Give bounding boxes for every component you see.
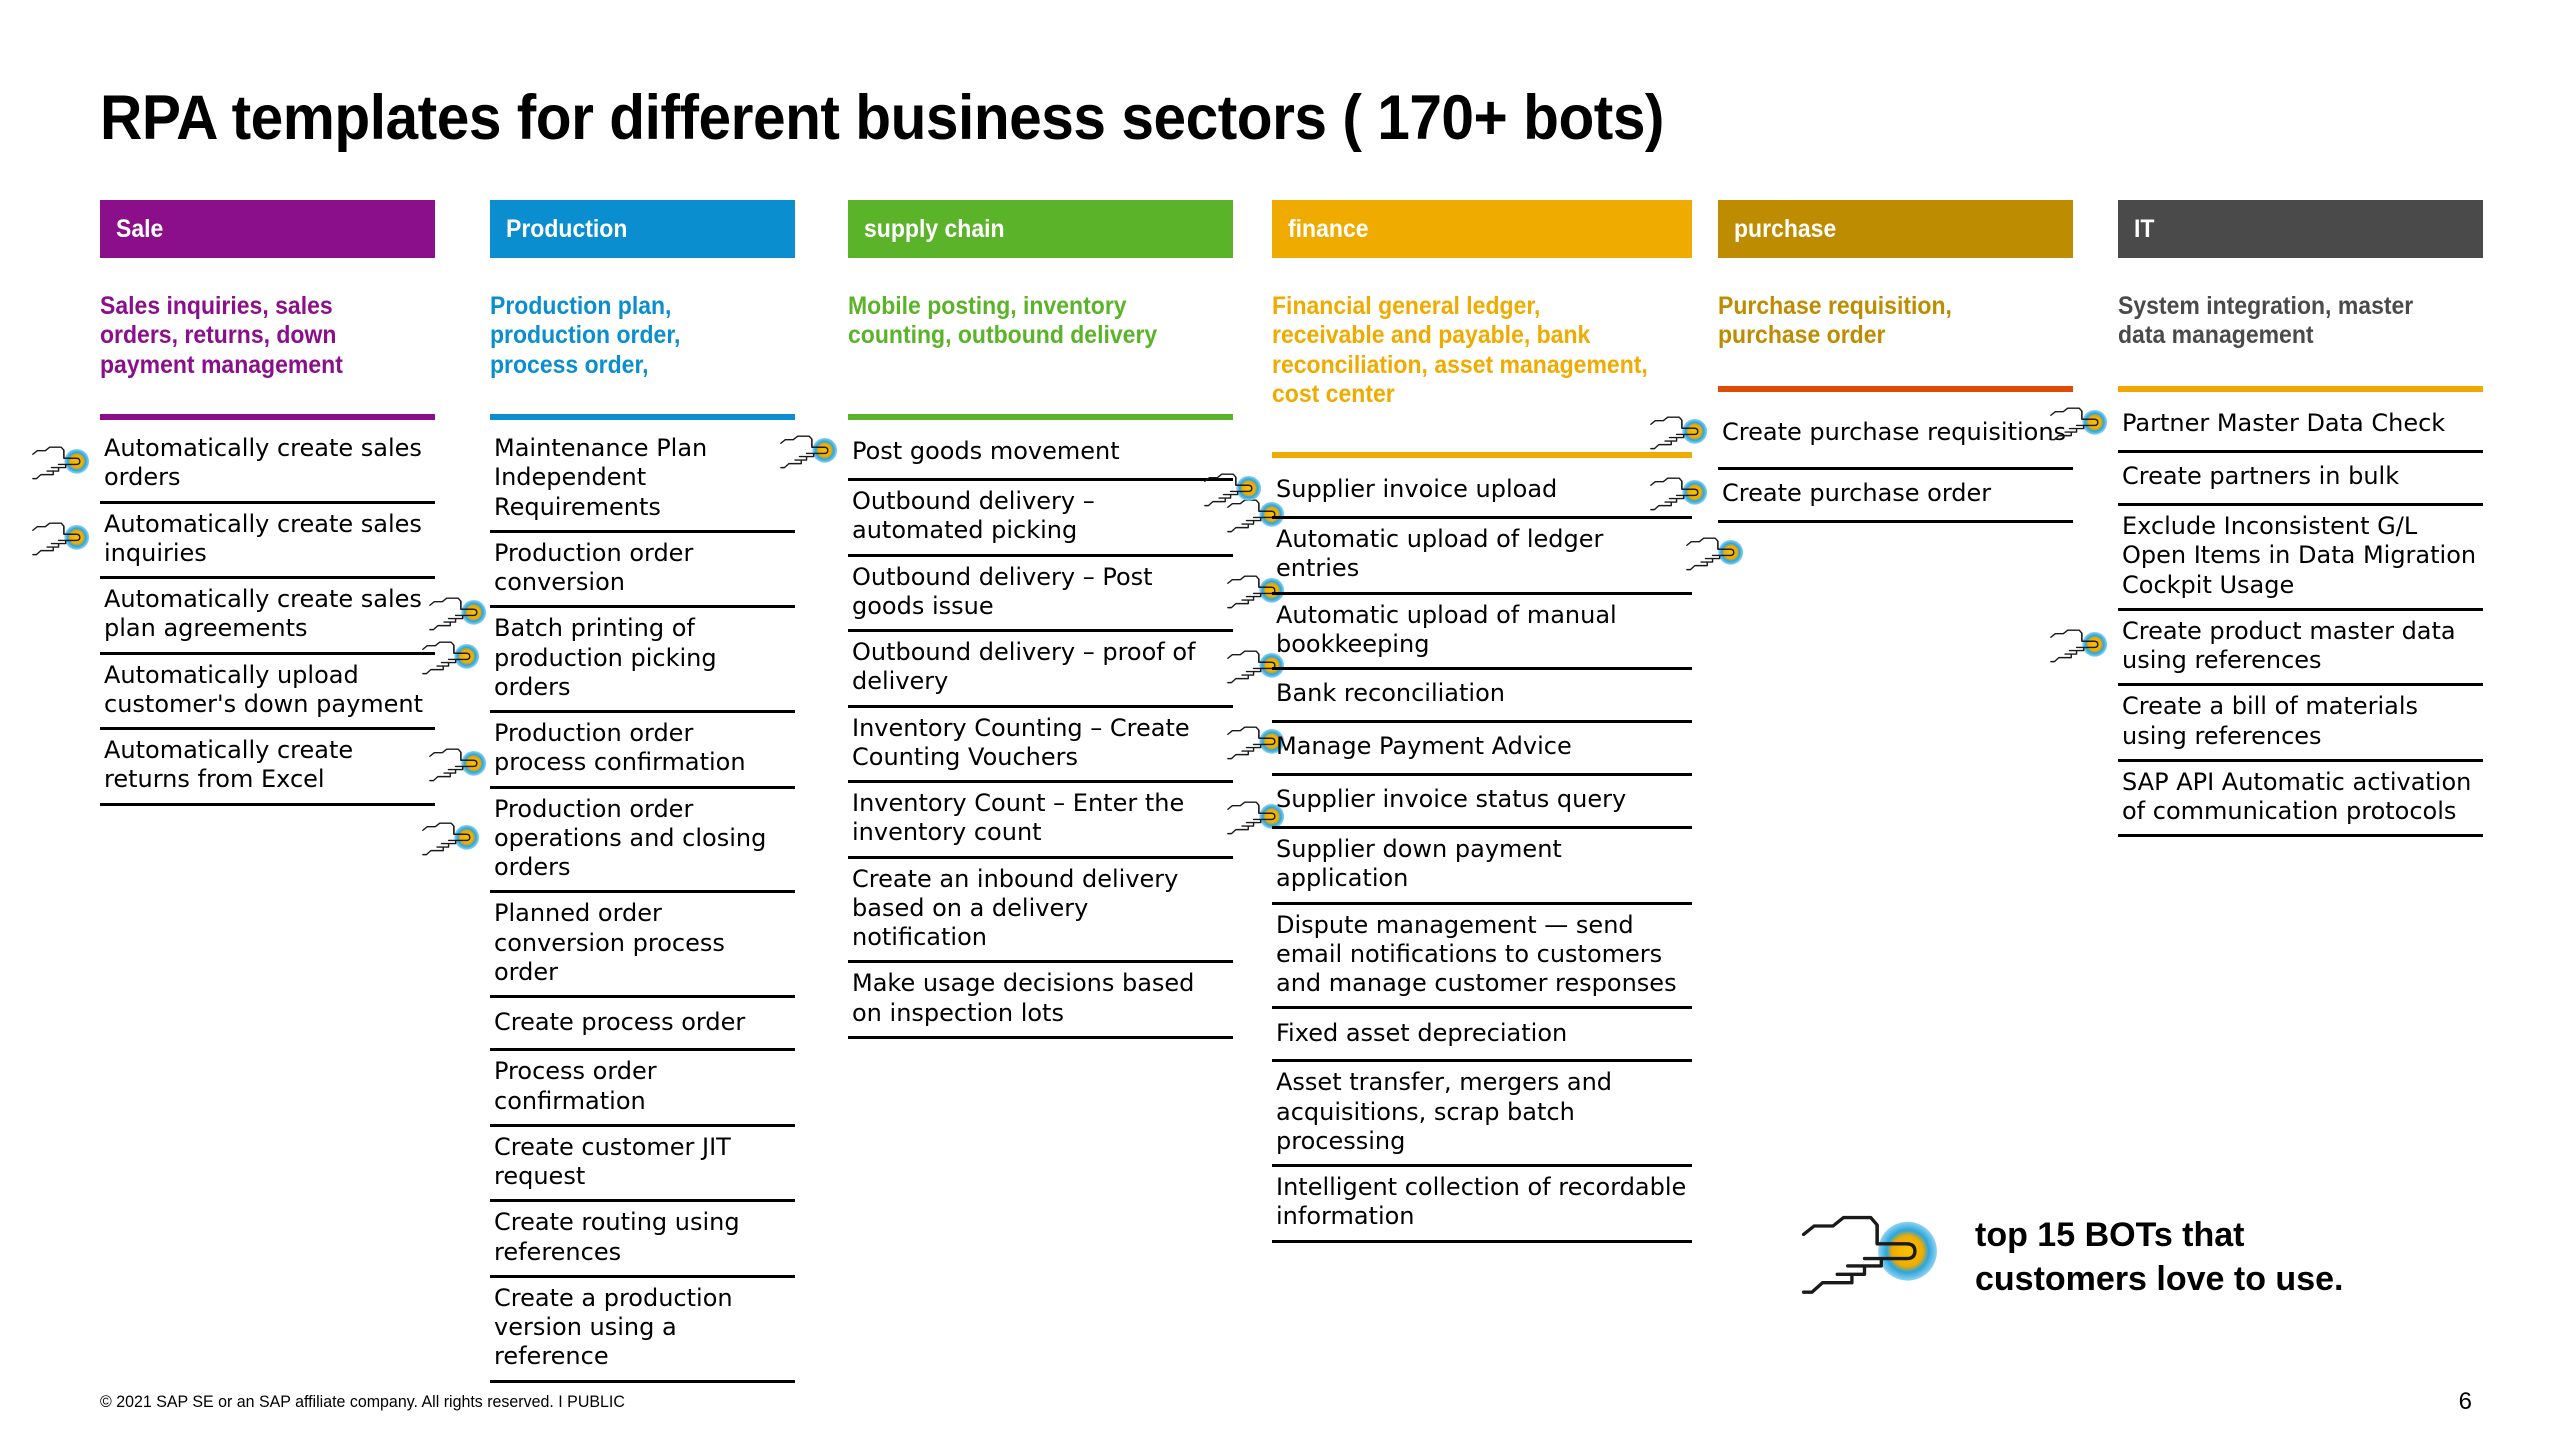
list-item-label: Exclude Inconsistent G/L Open Items in D…	[2118, 506, 2483, 608]
column-subtitle-finance: Financial general ledger, receivable and…	[1272, 292, 1692, 442]
bot-icon	[422, 817, 484, 863]
list-item[interactable]: Create a bill of materials using referen…	[2118, 686, 2483, 762]
list-item-label: Production order process confirmation	[490, 713, 795, 786]
list-item[interactable]: Partner Master Data Check	[2118, 400, 2483, 453]
item-list-production: Maintenance Plan Independent Requirement…	[490, 428, 795, 1383]
list-item-label: Partner Master Data Check	[2118, 403, 2449, 446]
list-item[interactable]: Create a production version using a refe…	[490, 1278, 795, 1383]
list-item[interactable]: Manage Payment Advice	[1272, 723, 1692, 776]
list-item[interactable]: Create product master data using referen…	[2118, 611, 2483, 687]
legend-line-2: customers love to use.	[1975, 1258, 2343, 1302]
list-item[interactable]: Inventory Count – Enter the inventory co…	[848, 783, 1233, 859]
bot-icon	[1795, 1205, 1955, 1310]
item-list-sale: Automatically create sales ordersAutomat…	[100, 428, 435, 806]
list-item[interactable]: Create process order	[490, 998, 795, 1051]
column-header-production[interactable]: Production	[490, 200, 795, 258]
legend-line-1: top 15 BOTs that	[1975, 1214, 2343, 1258]
list-item[interactable]: Create routing using references	[490, 1202, 795, 1278]
legend-text: top 15 BOTs that customers love to use.	[1975, 1214, 2343, 1301]
list-item[interactable]: Maintenance Plan Independent Requirement…	[490, 428, 795, 533]
list-item[interactable]: Automatically create sales inquiries	[100, 504, 435, 580]
list-item-label: Supplier invoice upload	[1272, 469, 1561, 512]
list-item-label: Automatically create returns from Excel	[100, 730, 435, 803]
column-subtitle-text: Production plan, production order, proce…	[490, 292, 771, 380]
list-item[interactable]: Exclude Inconsistent G/L Open Items in D…	[2118, 506, 2483, 611]
list-item-label: Bank reconciliation	[1272, 673, 1509, 716]
column-header-label: supply chain	[864, 215, 1005, 244]
list-item[interactable]: Batch printing of production picking ord…	[490, 608, 795, 713]
list-item-label: Create routing using references	[490, 1202, 795, 1275]
column-header-label: Sale	[116, 215, 163, 244]
column-supply-chain: supply chainMobile posting, inventory co…	[848, 200, 1233, 1039]
list-item[interactable]: Automatically create sales plan agreemen…	[100, 579, 435, 655]
list-item[interactable]: Outbound delivery – Post goods issue	[848, 557, 1233, 633]
list-item[interactable]: Make usage decisions based on inspection…	[848, 963, 1233, 1039]
column-rule-production	[490, 414, 795, 420]
list-item[interactable]: Intelligent collection of recordable inf…	[1272, 1167, 1692, 1243]
list-item-label: Make usage decisions based on inspection…	[848, 963, 1233, 1036]
list-item-label: Outbound delivery – proof of delivery	[848, 632, 1233, 705]
column-subtitle-text: Mobile posting, inventory counting, outb…	[848, 292, 1202, 351]
page-title: RPA templates for different business sec…	[100, 82, 1664, 154]
list-item-label: Inventory Count – Enter the inventory co…	[848, 783, 1233, 856]
column-subtitle-purchase: Purchase requisition, purchase order	[1718, 292, 2073, 376]
list-item-label: Dispute management — send email notifica…	[1272, 905, 1692, 1007]
list-item-label: Create an inbound delivery based on a de…	[848, 859, 1233, 961]
list-item-label: Automatically upload customer's down pay…	[100, 655, 435, 728]
column-rule-it	[2118, 386, 2483, 392]
list-item[interactable]: Supplier down payment application	[1272, 829, 1692, 905]
list-item[interactable]: Dispute management — send email notifica…	[1272, 905, 1692, 1010]
bot-icon	[1686, 532, 1748, 578]
list-item-label: Outbound delivery – automated picking	[848, 481, 1233, 554]
list-item-label: SAP API Automatic activation of communic…	[2118, 762, 2483, 835]
legend: top 15 BOTs that customers love to use.	[1795, 1205, 2343, 1310]
list-item[interactable]: Inventory Counting – Create Counting Vou…	[848, 708, 1233, 784]
list-item[interactable]: Fixed asset depreciation	[1272, 1009, 1692, 1062]
list-item-label: Supplier down payment application	[1272, 829, 1692, 902]
column-purchase: purchasePurchase requisition, purchase o…	[1718, 200, 2073, 523]
list-item[interactable]: Supplier invoice upload	[1272, 466, 1692, 519]
bot-icon	[429, 743, 491, 789]
list-item[interactable]: Post goods movement	[848, 428, 1233, 481]
list-item-label: Asset transfer, mergers and acquisitions…	[1272, 1062, 1692, 1164]
list-item-label: Process order confirmation	[490, 1051, 795, 1124]
list-item-label: Create process order	[490, 1002, 749, 1045]
list-item-label: Supplier invoice status query	[1272, 779, 1630, 822]
list-item[interactable]: Create partners in bulk	[2118, 453, 2483, 506]
bot-icon	[2050, 624, 2112, 670]
item-list-supply-chain: Post goods movementOutbound delivery – a…	[848, 428, 1233, 1039]
column-header-label: finance	[1288, 215, 1369, 244]
list-item[interactable]: Automatic upload of manual bookkeeping	[1272, 595, 1692, 671]
list-item-label: Create customer JIT request	[490, 1127, 795, 1200]
list-item[interactable]: Supplier invoice status query	[1272, 776, 1692, 829]
footer-copyright: © 2021 SAP SE or an SAP affiliate compan…	[100, 1392, 625, 1412]
column-header-finance[interactable]: finance	[1272, 200, 1692, 258]
list-item[interactable]: Production order process confirmation	[490, 713, 795, 789]
list-item-label: Automatic upload of manual bookkeeping	[1272, 595, 1692, 668]
column-subtitle-it: System integration, master data manageme…	[2118, 292, 2483, 376]
list-item[interactable]: Process order confirmation	[490, 1051, 795, 1127]
list-item[interactable]: Outbound delivery – proof of delivery	[848, 632, 1233, 708]
list-item[interactable]: Create purchase order	[1718, 470, 2073, 523]
item-list-purchase: Create purchase requisitionsCreate purch…	[1718, 400, 2073, 523]
list-item-label: Automatically create sales inquiries	[100, 504, 435, 577]
column-sale: SaleSales inquiries, sales orders, retur…	[100, 200, 435, 806]
column-header-label: IT	[2134, 215, 2154, 244]
item-list-finance: Supplier invoice uploadAutomatic upload …	[1272, 466, 1692, 1243]
list-item-label: Inventory Counting – Create Counting Vou…	[848, 708, 1233, 781]
column-header-it[interactable]: IT	[2118, 200, 2483, 258]
list-item-label: Post goods movement	[848, 431, 1124, 474]
list-item-label: Create a bill of materials using referen…	[2118, 686, 2483, 759]
list-item[interactable]: Create an inbound delivery based on a de…	[848, 859, 1233, 964]
list-item[interactable]: Bank reconciliation	[1272, 670, 1692, 723]
list-item-label: Production order conversion	[490, 533, 795, 606]
column-finance: financeFinancial general ledger, receiva…	[1272, 200, 1692, 1243]
list-item[interactable]: Automatically create returns from Excel	[100, 730, 435, 806]
list-item-label: Automatic upload of ledger entries	[1272, 519, 1692, 592]
list-item-label: Manage Payment Advice	[1272, 726, 1576, 769]
column-header-label: purchase	[1734, 215, 1836, 244]
column-subtitle-text: System integration, master data manageme…	[2118, 292, 2454, 351]
list-item-label: Maintenance Plan Independent Requirement…	[490, 428, 795, 530]
column-rule-supply-chain	[848, 414, 1233, 420]
column-subtitle-text: Purchase requisition, purchase order	[1718, 292, 2045, 351]
list-item[interactable]: Automatically create sales orders	[100, 428, 435, 504]
list-item[interactable]: Create customer JIT request	[490, 1127, 795, 1203]
list-item[interactable]: Planned order conversion process order	[490, 893, 795, 998]
list-item[interactable]: Asset transfer, mergers and acquisitions…	[1272, 1062, 1692, 1167]
list-item[interactable]: Outbound delivery – automated picking	[848, 481, 1233, 557]
column-rule-sale	[100, 414, 435, 420]
list-item[interactable]: Automatic upload of ledger entries	[1272, 519, 1692, 595]
list-item-label: Fixed asset depreciation	[1272, 1013, 1571, 1056]
list-item-label: Intelligent collection of recordable inf…	[1272, 1167, 1692, 1240]
list-item-label: Automatically create sales orders	[100, 428, 435, 501]
column-subtitle-supply-chain: Mobile posting, inventory counting, outb…	[848, 292, 1233, 404]
page-number: 6	[2459, 1388, 2472, 1416]
list-item-label: Create a production version using a refe…	[490, 1278, 795, 1380]
list-item[interactable]: Create purchase requisitions	[1718, 400, 2073, 470]
list-item-label: Create partners in bulk	[2118, 456, 2403, 499]
column-header-supply-chain[interactable]: supply chain	[848, 200, 1233, 258]
list-item-label: Batch printing of production picking ord…	[490, 608, 795, 710]
column-subtitle-text: Financial general ledger, receivable and…	[1272, 292, 1658, 409]
list-item[interactable]: SAP API Automatic activation of communic…	[2118, 762, 2483, 838]
column-header-purchase[interactable]: purchase	[1718, 200, 2073, 258]
list-item-label: Create purchase requisitions	[1718, 412, 2070, 455]
column-rule-purchase	[1718, 386, 2073, 392]
column-rule-finance	[1272, 452, 1692, 458]
list-item-label: Create product master data using referen…	[2118, 611, 2483, 684]
bot-icon	[429, 592, 491, 638]
list-item-label: Create purchase order	[1718, 473, 1995, 516]
column-header-sale[interactable]: Sale	[100, 200, 435, 258]
list-item-label: Planned order conversion process order	[490, 893, 795, 995]
list-item[interactable]: Automatically upload customer's down pay…	[100, 655, 435, 731]
list-item-label: Outbound delivery – Post goods issue	[848, 557, 1233, 630]
item-list-it: Partner Master Data CheckCreate partners…	[2118, 400, 2483, 837]
column-it: ITSystem integration, master data manage…	[2118, 200, 2483, 837]
bot-icon	[32, 517, 94, 563]
list-item-label: Automatically create sales plan agreemen…	[100, 579, 435, 652]
list-item[interactable]: Production order conversion	[490, 533, 795, 609]
column-header-label: Production	[506, 215, 627, 244]
bot-icon	[32, 441, 94, 487]
column-subtitle-sale: Sales inquiries, sales orders, returns, …	[100, 292, 435, 404]
list-item-label: Production order operations and closing …	[490, 789, 795, 891]
column-subtitle-production: Production plan, production order, proce…	[490, 292, 795, 404]
column-production: ProductionProduction plan, production or…	[490, 200, 795, 1383]
list-item[interactable]: Production order operations and closing …	[490, 789, 795, 894]
column-subtitle-text: Sales inquiries, sales orders, returns, …	[100, 292, 408, 380]
